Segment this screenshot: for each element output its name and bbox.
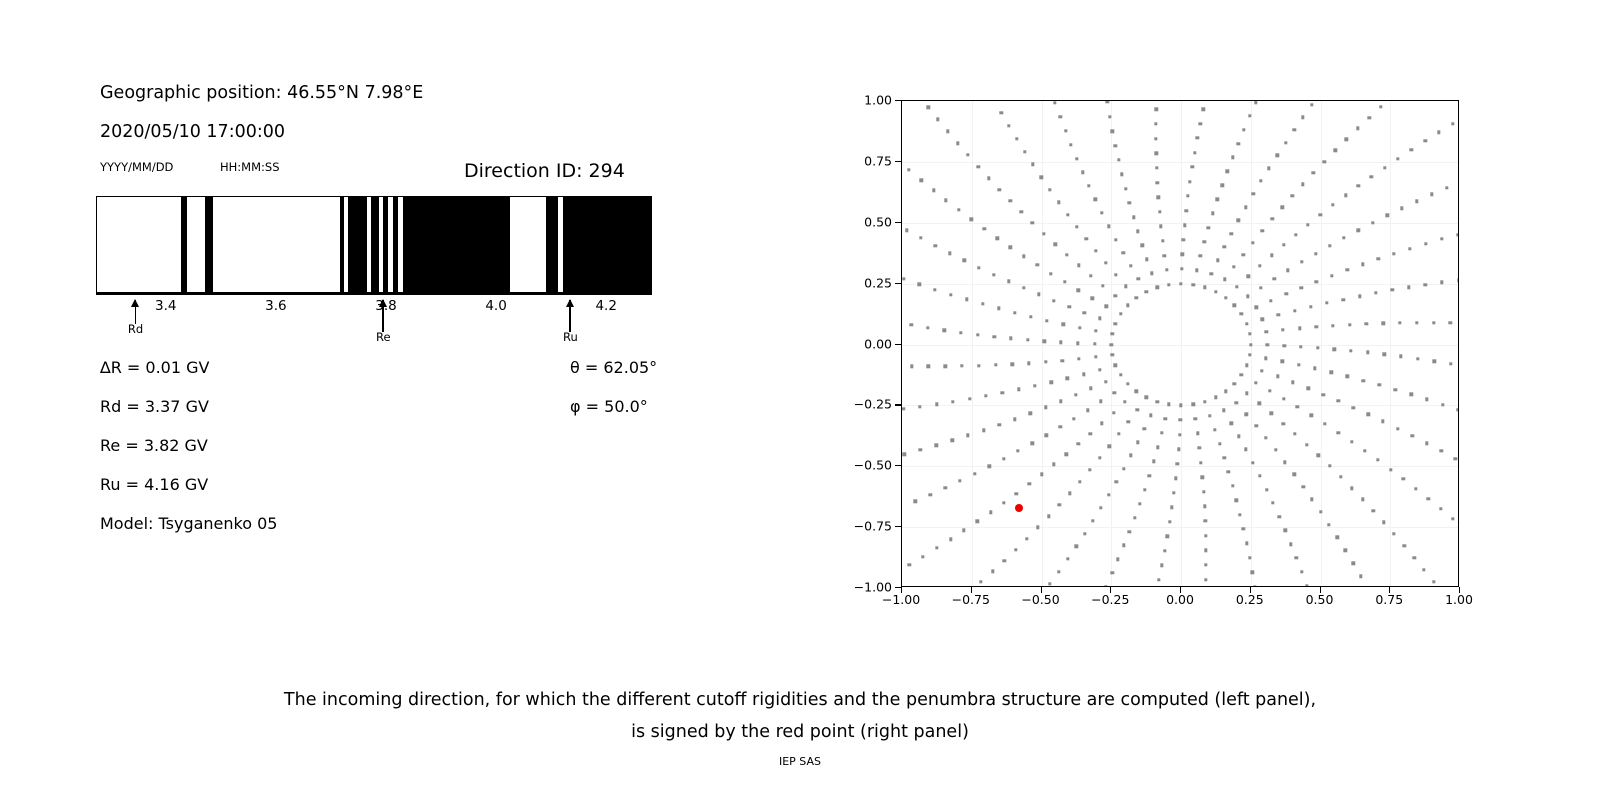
direction-point <box>1449 362 1452 365</box>
direction-point <box>1191 165 1194 168</box>
direction-point <box>1160 431 1163 434</box>
direction-point <box>1144 290 1147 293</box>
direction-point <box>1310 103 1313 106</box>
direction-point <box>1132 215 1135 218</box>
direction-point <box>1089 432 1092 435</box>
direction-point <box>993 335 996 338</box>
direction-point <box>1224 389 1227 392</box>
direction-point <box>1416 357 1419 360</box>
direction-point <box>1242 527 1245 530</box>
direction-point <box>1209 272 1212 275</box>
direction-point <box>1023 150 1026 153</box>
direction-point <box>1154 137 1157 140</box>
direction-point <box>944 486 947 489</box>
direction-point <box>1174 477 1177 480</box>
direction-point <box>1003 559 1006 562</box>
direction-point <box>1104 585 1107 587</box>
caption-line-1: The incoming direction, for which the di… <box>0 684 1600 716</box>
direction-point <box>1422 568 1425 571</box>
direction-point <box>1230 421 1233 424</box>
direction-point <box>944 198 947 201</box>
direction-point <box>1261 317 1264 320</box>
direction-point <box>1063 280 1066 283</box>
cutoff-marker-label-re: Re <box>376 330 391 344</box>
direction-point <box>962 529 965 532</box>
direction-point <box>1301 182 1304 185</box>
direction-point <box>1283 529 1286 532</box>
direction-point <box>1065 453 1068 456</box>
direction-point <box>1082 372 1085 375</box>
direction-point <box>948 251 951 254</box>
direction-point <box>1361 263 1364 266</box>
direction-point <box>1089 387 1092 390</box>
direction-point <box>1099 400 1102 403</box>
direction-point <box>1439 449 1442 452</box>
direction-point <box>1106 100 1109 103</box>
direction-point <box>1351 562 1354 565</box>
direction-point <box>1270 254 1273 257</box>
direction-point <box>1029 315 1032 318</box>
direction-point <box>1316 346 1319 349</box>
direction-point <box>919 236 922 239</box>
direction-point <box>1182 238 1185 241</box>
direction-point <box>1319 510 1322 513</box>
direction-point <box>1069 143 1072 146</box>
direction-point <box>1248 556 1251 559</box>
direction-point <box>1221 184 1224 187</box>
direction-point <box>1126 304 1129 307</box>
direction-point <box>1259 179 1262 182</box>
sky-map-xtick-label: −0.25 <box>1091 592 1129 607</box>
direction-point <box>1040 472 1043 475</box>
direction-point <box>1259 286 1262 289</box>
direction-point <box>949 538 952 541</box>
direction-point <box>1370 175 1373 178</box>
direction-point <box>1074 393 1077 396</box>
direction-point <box>1031 221 1034 224</box>
direction-point <box>1199 122 1202 125</box>
direction-point <box>1344 549 1347 552</box>
direction-point <box>949 293 952 296</box>
direction-point <box>1226 170 1229 173</box>
direction-point <box>1391 288 1394 291</box>
direction-point <box>1313 367 1316 370</box>
direction-point <box>1048 188 1051 191</box>
direction-point <box>1067 305 1070 308</box>
direction-point <box>1310 498 1313 501</box>
direction-point <box>1117 158 1120 161</box>
direction-point <box>1150 272 1153 275</box>
direction-id-label: Direction ID: 294 <box>464 160 625 182</box>
direction-point <box>1291 194 1294 197</box>
direction-point <box>1362 379 1365 382</box>
cutoff-marker-arrow-ru <box>569 300 571 332</box>
direction-point <box>991 570 994 573</box>
direction-point <box>1065 253 1068 256</box>
direction-point <box>1328 464 1331 467</box>
gridline-horizontal <box>902 162 1458 163</box>
sky-map-ytick-label: 0.50 <box>838 214 892 229</box>
direction-point <box>1100 211 1103 214</box>
sky-map-xtick-mark <box>1320 587 1321 593</box>
direction-point <box>1040 175 1043 178</box>
direction-point <box>1061 359 1064 362</box>
direction-point <box>1128 530 1131 533</box>
direction-point <box>1342 236 1345 239</box>
direction-point <box>1312 171 1315 174</box>
direction-point <box>1122 544 1125 547</box>
penumbra-forbidden-band <box>340 197 344 292</box>
direction-point <box>1305 443 1308 446</box>
direction-point <box>1155 286 1158 289</box>
direction-point <box>1043 340 1046 343</box>
direction-point <box>1176 462 1179 465</box>
direction-point <box>1098 316 1101 319</box>
sky-map-ytick-mark <box>895 222 901 223</box>
direction-point <box>1076 342 1079 345</box>
direction-point <box>1382 322 1385 325</box>
direction-point <box>1392 252 1395 255</box>
direction-point <box>1356 127 1359 130</box>
direction-point <box>1411 434 1414 437</box>
direction-point <box>1202 490 1205 493</box>
direction-point <box>1016 449 1019 452</box>
direction-point <box>1114 273 1117 276</box>
direction-point <box>935 444 938 447</box>
direction-point <box>1077 264 1080 267</box>
direction-point <box>1273 277 1276 280</box>
direction-point <box>1386 214 1389 217</box>
direction-point <box>1177 447 1180 450</box>
direction-point <box>1274 448 1277 451</box>
date-format-hint: YYYY/MM/DD <box>100 160 173 174</box>
gridline-vertical <box>972 101 973 586</box>
penumbra-forbidden-band <box>563 197 652 292</box>
direction-point <box>1029 412 1032 415</box>
direction-point <box>992 273 995 276</box>
direction-point <box>1044 406 1047 409</box>
direction-point <box>1154 108 1157 111</box>
direction-point <box>982 428 985 431</box>
sky-map-xtick-label: 0.00 <box>1166 592 1194 607</box>
direction-point <box>983 227 986 230</box>
direction-point <box>1104 380 1107 383</box>
direction-point <box>1449 321 1452 324</box>
direction-point <box>1138 502 1141 505</box>
direction-point <box>1289 543 1292 546</box>
direction-point <box>1167 403 1170 406</box>
direction-point <box>1155 400 1158 403</box>
direction-point <box>1075 545 1078 548</box>
direction-point <box>1203 286 1206 289</box>
direction-point <box>1042 232 1045 235</box>
direction-point <box>1305 584 1308 587</box>
direction-point <box>1216 259 1219 262</box>
parameter-row: φ = 50.0° <box>570 397 648 416</box>
sky-map-ytick-label: 0.25 <box>838 275 892 290</box>
direction-point <box>1000 111 1003 114</box>
direction-point <box>1191 283 1194 286</box>
direction-point <box>1015 492 1018 495</box>
direction-point <box>1108 444 1111 447</box>
parameter-row: ∆R = 0.01 GV <box>100 358 209 377</box>
direction-point <box>1254 424 1257 427</box>
direction-point <box>1291 381 1294 384</box>
direction-point <box>1341 298 1344 301</box>
sky-map-xtick-label: 0.50 <box>1306 592 1334 607</box>
direction-point <box>1199 254 1202 257</box>
credit-label: IEP SAS <box>0 755 1600 768</box>
direction-point <box>1251 461 1254 464</box>
sky-map-ytick-mark <box>895 404 901 405</box>
gridline-horizontal <box>902 345 1458 346</box>
direction-point <box>1113 391 1116 394</box>
direction-point <box>1149 414 1152 417</box>
direction-point <box>1293 309 1296 312</box>
direction-point <box>934 244 937 247</box>
direction-point <box>1216 198 1219 201</box>
direction-point <box>1161 239 1164 242</box>
direction-point <box>1392 532 1395 535</box>
direction-point <box>1439 507 1442 510</box>
direction-point <box>1251 241 1254 244</box>
direction-point <box>1264 436 1267 439</box>
direction-point <box>1451 122 1454 125</box>
sky-map-ytick-mark <box>895 283 901 284</box>
direction-point <box>1120 173 1123 176</box>
direction-point <box>1271 501 1274 504</box>
direction-point <box>966 434 969 437</box>
direction-point <box>987 177 990 180</box>
direction-point <box>968 397 971 400</box>
direction-point <box>1119 373 1122 376</box>
direction-point <box>951 400 954 403</box>
penumbra-panel: Geographic position: 46.55°N 7.98°E 2020… <box>0 0 800 660</box>
direction-point <box>1350 486 1353 489</box>
sky-map-xtick-mark <box>1180 587 1181 593</box>
penumbra-forbidden-band <box>383 197 388 292</box>
direction-point <box>1117 432 1120 435</box>
direction-point <box>1245 322 1248 325</box>
direction-point <box>1254 381 1257 384</box>
direction-point <box>1129 264 1132 267</box>
direction-point <box>1048 582 1051 585</box>
sky-map-ytick-label: 0.00 <box>838 336 892 351</box>
direction-point <box>1170 506 1173 509</box>
direction-point <box>1331 203 1334 206</box>
direction-point <box>1185 209 1188 212</box>
direction-point <box>1181 253 1184 256</box>
direction-point <box>1045 319 1048 322</box>
gridline-vertical <box>1181 101 1182 586</box>
direction-point <box>1400 206 1403 209</box>
direction-point <box>1078 480 1081 483</box>
direction-point <box>1245 542 1248 545</box>
direction-point <box>1091 519 1094 522</box>
direction-point <box>914 500 917 503</box>
direction-point <box>1204 519 1207 522</box>
direction-point <box>1223 245 1226 248</box>
sky-map-xtick-mark <box>1041 587 1042 593</box>
direction-point <box>979 580 982 583</box>
direction-point <box>1119 312 1122 315</box>
direction-point <box>1110 571 1113 574</box>
direction-point <box>963 259 966 262</box>
direction-point <box>1236 142 1239 145</box>
direction-point <box>1240 373 1243 376</box>
direction-point <box>1058 425 1061 428</box>
direction-point <box>1377 257 1380 260</box>
cutoff-marker-arrow-re <box>382 300 384 332</box>
penumbra-forbidden-band <box>546 197 558 292</box>
direction-point <box>1017 388 1020 391</box>
direction-point <box>1414 487 1417 490</box>
direction-point <box>1415 199 1418 202</box>
penumbra-xtick-label: 3.4 <box>155 298 176 314</box>
direction-point <box>1136 230 1139 233</box>
direction-point <box>1424 242 1427 245</box>
direction-point <box>1108 115 1111 118</box>
direction-point <box>1110 343 1113 346</box>
direction-point <box>932 189 935 192</box>
direction-point <box>1365 322 1368 325</box>
direction-point <box>1027 361 1030 364</box>
direction-point <box>1233 304 1236 307</box>
direction-point <box>1363 449 1366 452</box>
direction-point <box>943 365 946 368</box>
direction-point <box>1124 285 1127 288</box>
direction-point <box>1253 585 1256 587</box>
sky-map-panel: −1.00−0.75−0.50−0.250.000.250.500.751.00… <box>800 0 1600 660</box>
direction-point <box>1268 389 1271 392</box>
direction-point <box>1204 534 1207 537</box>
figure-caption: The incoming direction, for which the di… <box>0 684 1600 748</box>
direction-point <box>1425 442 1428 445</box>
direction-point <box>966 153 969 156</box>
direction-point <box>1309 414 1312 417</box>
direction-point <box>1350 440 1353 443</box>
direction-point <box>1091 297 1094 300</box>
direction-point <box>1030 442 1033 445</box>
direction-point <box>1083 311 1086 314</box>
direction-point <box>918 405 921 408</box>
direction-point <box>1277 313 1280 316</box>
direction-point <box>1306 387 1309 390</box>
direction-point <box>1098 456 1101 459</box>
direction-point <box>1222 408 1225 411</box>
direction-point <box>1196 432 1199 435</box>
parameter-row: Ru = 4.16 GV <box>100 475 208 494</box>
direction-point <box>984 394 987 397</box>
direction-point <box>1107 225 1110 228</box>
direction-point <box>1261 229 1264 232</box>
direction-point <box>1001 391 1004 394</box>
direction-point <box>1379 105 1382 108</box>
direction-point <box>1037 293 1040 296</box>
direction-point <box>907 563 910 566</box>
direction-point <box>1104 261 1107 264</box>
direction-point <box>959 331 962 334</box>
direction-point <box>1425 398 1428 401</box>
direction-point <box>1412 556 1415 559</box>
direction-point <box>1014 548 1017 551</box>
direction-point <box>1143 427 1146 430</box>
direction-point <box>1179 404 1182 407</box>
direction-point <box>1020 210 1023 213</box>
direction-point <box>1372 509 1375 512</box>
direction-point <box>1157 578 1160 581</box>
direction-point <box>943 329 946 332</box>
sky-map-xtick-mark <box>1459 587 1460 593</box>
direction-point <box>1301 485 1304 488</box>
direction-point <box>1196 136 1199 139</box>
direction-point <box>1345 138 1348 141</box>
sky-map-ytick-label: −0.50 <box>838 458 892 473</box>
selected-direction-point[interactable] <box>1015 504 1023 512</box>
direction-point <box>1199 461 1202 464</box>
direction-point <box>1336 536 1339 539</box>
direction-point <box>1159 225 1162 228</box>
direction-point <box>1323 422 1326 425</box>
direction-point <box>1115 480 1118 483</box>
direction-point <box>1186 194 1189 197</box>
direction-point <box>956 142 959 145</box>
direction-point <box>1087 184 1090 187</box>
direction-point <box>1337 399 1340 402</box>
direction-point <box>1101 284 1104 287</box>
direction-point <box>1183 224 1186 227</box>
direction-point <box>1242 128 1245 131</box>
direction-point <box>1011 363 1014 366</box>
cutoff-marker-arrow-rd <box>135 300 137 324</box>
direction-point <box>1147 474 1150 477</box>
direction-point <box>1126 382 1129 385</box>
direction-point <box>1123 400 1126 403</box>
direction-point <box>1314 252 1317 255</box>
direction-point <box>1408 247 1411 250</box>
direction-point <box>1283 344 1286 347</box>
direction-point <box>1143 488 1146 491</box>
direction-point <box>1280 206 1283 209</box>
direction-point <box>1072 417 1075 420</box>
sky-map-ytick-label: 0.75 <box>838 153 892 168</box>
direction-point <box>1441 403 1444 406</box>
direction-point <box>1349 349 1352 352</box>
direction-point <box>1352 406 1355 409</box>
direction-point <box>1116 557 1119 560</box>
direction-point <box>1078 326 1081 329</box>
direction-point <box>1075 225 1078 228</box>
gridline-vertical <box>1042 101 1043 586</box>
direction-point <box>1133 516 1136 519</box>
direction-point <box>1007 280 1010 283</box>
direction-point <box>910 323 913 326</box>
direction-point <box>1049 272 1052 275</box>
direction-point <box>1264 356 1267 359</box>
penumbra-xtick-label: 4.2 <box>595 298 616 314</box>
direction-point <box>1292 473 1295 476</box>
direction-point <box>1357 184 1360 187</box>
direction-point <box>1415 321 1418 324</box>
direction-point <box>1094 329 1097 332</box>
direction-point <box>935 403 938 406</box>
direction-point <box>1248 353 1251 356</box>
direction-point <box>1398 321 1401 324</box>
sky-map-ytick-label: −0.75 <box>838 519 892 534</box>
direction-point <box>976 333 979 336</box>
direction-point <box>958 479 961 482</box>
direction-point <box>1015 137 1018 140</box>
